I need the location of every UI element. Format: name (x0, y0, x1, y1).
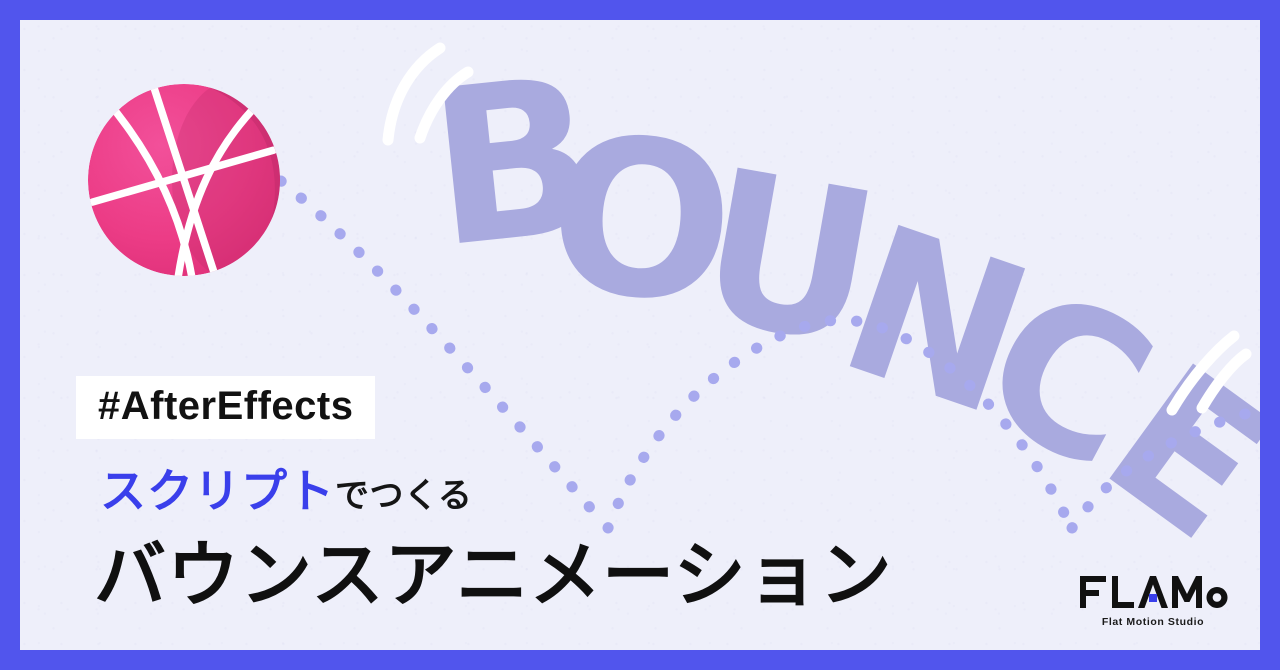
swoosh-top-left (388, 48, 468, 140)
bounce-letters: B O U N C E (419, 29, 1260, 584)
subheadline-accent: スクリプト (100, 465, 335, 517)
main-headline: バウンスアニメーション (94, 538, 893, 616)
hashtag-badge: #AfterEffects (76, 376, 375, 439)
subheadline: スクリプトでつくる (100, 468, 472, 514)
swoosh-bottom-right (1172, 336, 1246, 410)
logo-accent-dot (1149, 594, 1157, 602)
bounce-letter-c: C (947, 242, 1186, 517)
bounce-letter-e: E (1068, 322, 1260, 584)
trajectory-segment-2 (608, 320, 1070, 528)
poster-stage: B O U N C E (20, 20, 1260, 650)
bounce-letter-n: N (816, 181, 1056, 462)
brand-logo: Flat Motion Studio (1078, 570, 1228, 628)
trajectory-segment-3 (1072, 410, 1260, 528)
bounce-letter-u: U (683, 123, 893, 394)
flamo-wordmark-icon (1078, 570, 1228, 614)
subheadline-plain: でつくる (335, 477, 472, 515)
logo-tagline: Flat Motion Studio (1078, 616, 1228, 628)
poster-canvas: B O U N C E (0, 0, 1280, 670)
bounce-letter-b: B (419, 29, 608, 296)
bounce-letter-o: O (541, 88, 741, 351)
basketball (84, 80, 284, 280)
